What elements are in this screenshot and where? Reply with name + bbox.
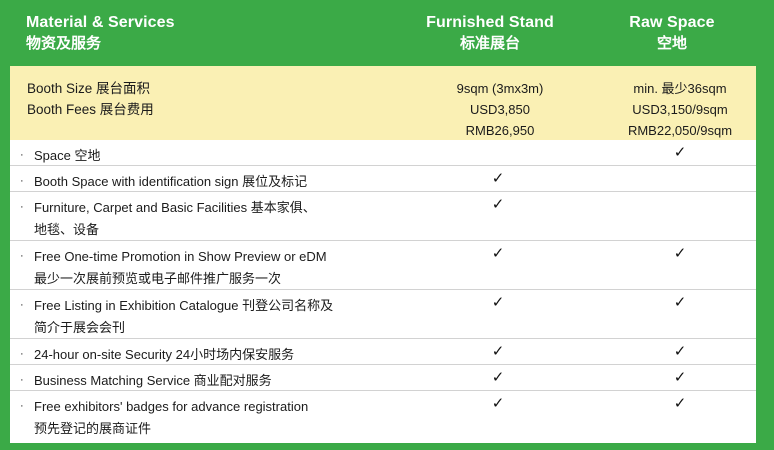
check-icon-raw: ✓ (595, 394, 765, 412)
header-col-furnished-stand-en: Furnished Stand (395, 13, 585, 32)
row-label-line1: Booth Space with identification sign 展位及… (34, 174, 307, 189)
header-col-material-zh: 物资及服务 (26, 34, 175, 53)
header-col-material-en: Material & Services (26, 13, 175, 32)
check-icon-raw: ✓ (595, 143, 765, 161)
raw-booth-size: min. 最少36sqm (595, 78, 765, 99)
table-row: ·Business Matching Service 商业配对服务✓✓ (10, 365, 756, 391)
header-col-furnished-stand: Furnished Stand 标准展台 (395, 13, 585, 53)
check-icon-furnished: ✓ (410, 169, 586, 187)
row-label: ·Space 空地 (20, 144, 100, 167)
row-label-line2: 地毯、设备 (20, 219, 316, 241)
check-icon-furnished: ✓ (410, 394, 586, 412)
row-label-line1: 24-hour on-site Security 24小时场内保安服务 (34, 347, 294, 362)
furnished-booth-fee-rmb: RMB26,950 (410, 120, 590, 141)
booth-package-comparison-table: Material & Services 物资及服务 Furnished Stan… (0, 0, 774, 450)
bullet-icon: · (20, 294, 34, 316)
row-label-line1: Space 空地 (34, 148, 100, 163)
row-label: ·Booth Space with identification sign 展位… (20, 170, 307, 193)
furnished-booth-fee-usd: USD3,850 (410, 99, 590, 120)
raw-booth-fee-usd: USD3,150/9sqm (595, 99, 765, 120)
booth-fee-raw-values: min. 最少36sqm USD3,150/9sqm RMB22,050/9sq… (595, 78, 765, 141)
row-label-line1: Free exhibitors' badges for advance regi… (34, 399, 308, 414)
row-label: ·Free One-time Promotion in Show Preview… (20, 245, 327, 290)
table-row: ·Free exhibitors' badges for advance reg… (10, 391, 756, 440)
row-label: ·Free exhibitors' badges for advance reg… (20, 395, 308, 440)
check-icon-raw: ✓ (595, 244, 765, 262)
table-row: ·Free Listing in Exhibition Catalogue 刊登… (10, 290, 756, 339)
header-col-raw-space-en: Raw Space (592, 13, 752, 32)
bullet-icon: · (20, 343, 34, 365)
check-icon-furnished: ✓ (410, 195, 586, 213)
table-row: ·Furniture, Carpet and Basic Facilities … (10, 192, 756, 241)
table-row: ·Space 空地✓✓ (10, 140, 756, 166)
bullet-icon: · (20, 144, 34, 166)
row-label-line1: Free One-time Promotion in Show Preview … (34, 249, 327, 264)
booth-fee-band: Booth Size 展台面积 Booth Fees 展台费用 9sqm (3m… (10, 66, 756, 140)
check-icon-raw: ✓ (595, 293, 765, 311)
booth-fee-labels: Booth Size 展台面积 Booth Fees 展台费用 (27, 78, 154, 120)
bullet-icon: · (20, 170, 34, 192)
table-row: ·Free One-time Promotion in Show Preview… (10, 241, 756, 290)
furnished-booth-size: 9sqm (3mx3m) (410, 78, 590, 99)
booth-fees-label: Booth Fees 展台费用 (27, 99, 154, 120)
bullet-icon: · (20, 395, 34, 417)
header-col-raw-space: Raw Space 空地 (592, 13, 752, 53)
bullet-icon: · (20, 245, 34, 267)
row-label-line1: Furniture, Carpet and Basic Facilities 基… (34, 200, 316, 215)
bullet-icon: · (20, 369, 34, 391)
row-label-line1: Business Matching Service 商业配对服务 (34, 373, 272, 388)
check-icon-furnished: ✓ (410, 244, 586, 262)
row-label-line2: 预先登记的展商证件 (20, 418, 308, 440)
row-label: ·Furniture, Carpet and Basic Facilities … (20, 196, 316, 241)
check-icon-furnished: ✓ (410, 342, 586, 360)
raw-booth-fee-rmb: RMB22,050/9sqm (595, 120, 765, 141)
row-label-line1: Free Listing in Exhibition Catalogue 刊登公… (34, 298, 333, 313)
table-row: ·24-hour on-site Security 24小时场内保安服务✓✓ (10, 339, 756, 365)
row-label: ·Free Listing in Exhibition Catalogue 刊登… (20, 294, 333, 339)
booth-size-label: Booth Size 展台面积 (27, 78, 154, 99)
header-col-raw-space-zh: 空地 (592, 34, 752, 53)
check-icon-raw: ✓ (595, 342, 765, 360)
check-icon-furnished: ✓ (410, 293, 586, 311)
table-row: ·Booth Space with identification sign 展位… (10, 166, 756, 192)
header-col-material: Material & Services 物资及服务 (26, 13, 175, 53)
check-icon-raw: ✓ (595, 368, 765, 386)
bullet-icon: · (20, 196, 34, 218)
booth-fee-furnished-values: 9sqm (3mx3m) USD3,850 RMB26,950 (410, 78, 590, 141)
row-label-line2: 简介于展会会刊 (20, 317, 333, 339)
header-col-furnished-stand-zh: 标准展台 (395, 34, 585, 53)
inclusions-table-body: ·Space 空地✓✓·Booth Space with identificat… (10, 140, 756, 443)
row-label: ·24-hour on-site Security 24小时场内保安服务 (20, 343, 294, 366)
row-label-line2: 最少一次展前预览或电子邮件推广服务一次 (20, 268, 327, 290)
table-header: Material & Services 物资及服务 Furnished Stan… (0, 0, 774, 66)
check-icon-furnished: ✓ (410, 368, 586, 386)
row-label: ·Business Matching Service 商业配对服务 (20, 369, 272, 392)
